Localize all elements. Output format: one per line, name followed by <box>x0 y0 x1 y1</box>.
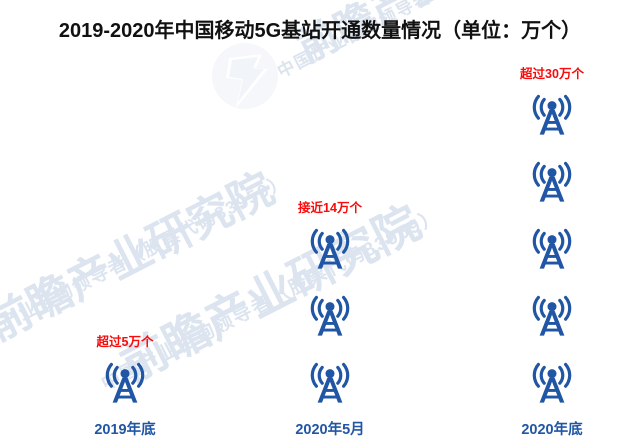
value-label: 超过30万个 <box>520 63 584 82</box>
cell-tower-icon <box>101 359 149 407</box>
column-2020-may: 接近14万个 2020年5月 <box>240 197 420 439</box>
cell-tower-icon <box>528 225 576 273</box>
cell-tower-icon <box>306 359 354 407</box>
period-label: 2019年底 <box>94 418 155 439</box>
column-2020-year-end: 超过30万个 2020年底 <box>462 63 640 439</box>
icon-stack <box>528 91 576 407</box>
cell-tower-icon <box>528 292 576 340</box>
value-label: 超过5万个 <box>97 331 154 350</box>
icon-stack <box>101 359 149 407</box>
cell-tower-icon <box>306 292 354 340</box>
column-2019-year-end: 超过5万个 2019年底 <box>35 331 215 439</box>
period-label: 2020年底 <box>521 418 582 439</box>
infographic-canvas: 前瞻产业研究院 中国产业咨询领导者（股票代码83959） 前瞻产业研究院 中国产… <box>0 0 640 447</box>
cell-tower-icon <box>528 91 576 139</box>
value-label: 接近14万个 <box>298 197 362 216</box>
cell-tower-icon <box>528 359 576 407</box>
period-label: 2020年5月 <box>295 418 364 439</box>
pictogram-columns: 超过5万个 2019年底 接近14万个 2020年5月 超过30万个 2020年… <box>0 0 640 447</box>
cell-tower-icon <box>528 158 576 206</box>
chart-title: 2019-2020年中国移动5G基站开通数量情况（单位：万个） <box>0 14 640 43</box>
cell-tower-icon <box>306 225 354 273</box>
icon-stack <box>306 225 354 407</box>
